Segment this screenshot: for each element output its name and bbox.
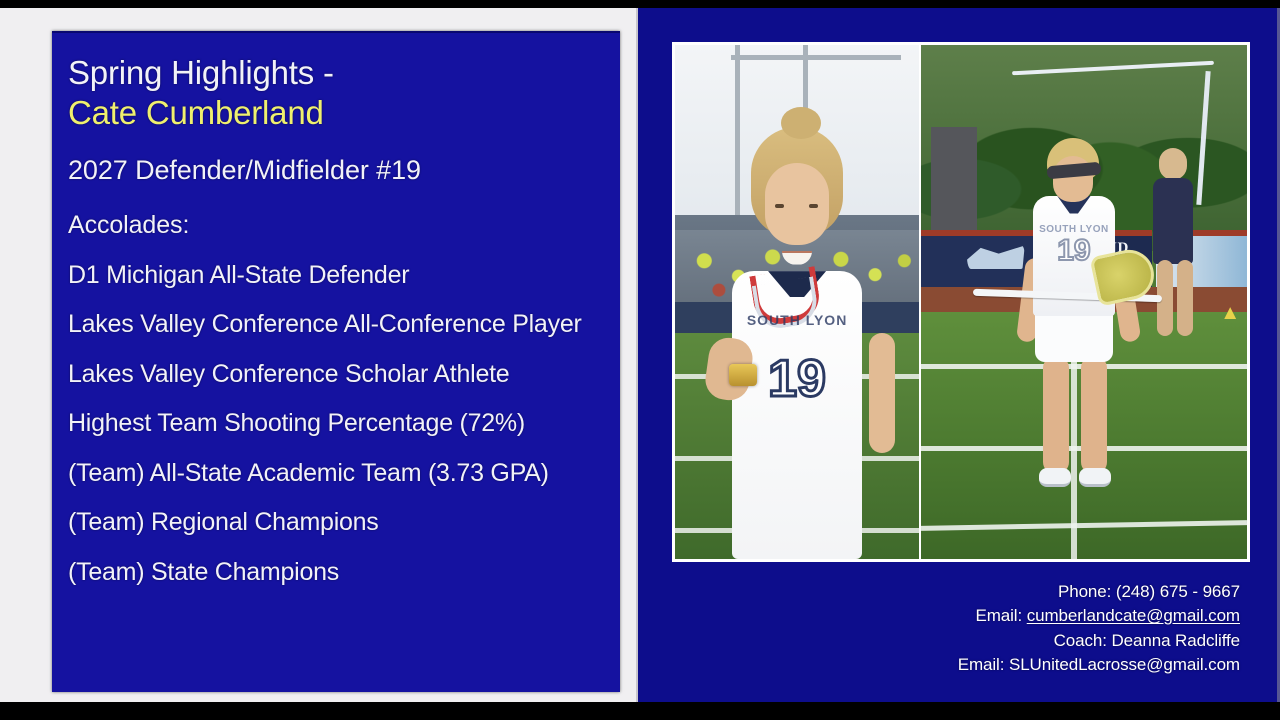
photo-field-action: FOUND: [921, 45, 1247, 559]
letterbox-top: [0, 0, 1280, 8]
left-page-background: Spring Highlights - Cate Cumberland 2027…: [0, 8, 638, 702]
gold-medal: [729, 364, 757, 386]
contact-phone: Phone: (248) 675 - 9667: [958, 580, 1240, 604]
athlete-name: Cate Cumberland: [68, 93, 604, 133]
accolades-list: D1 Michigan All-State Defender Lakes Val…: [68, 261, 604, 587]
accolade-item: (Team) State Champions: [68, 558, 604, 587]
accolade-item: D1 Michigan All-State Defender: [68, 261, 604, 290]
player-eye: [809, 204, 818, 208]
player-hair-bun: [781, 107, 821, 139]
contact-email-link[interactable]: cumberlandcate@gmail.com: [1027, 606, 1240, 625]
jersey-team-name: SOUTH LYON: [1033, 224, 1115, 235]
player-leg: [1081, 356, 1107, 474]
presentation-slide: Spring Highlights - Cate Cumberland 2027…: [0, 8, 1280, 702]
right-blue-panel: SOUTH LYON 19 FOUND: [640, 8, 1280, 702]
accolade-item: (Team) Regional Champions: [68, 508, 604, 537]
accolade-item: (Team) All-State Academic Team (3.73 GPA…: [68, 459, 604, 488]
background-player-head: [1159, 148, 1187, 180]
highlights-text-card: Spring Highlights - Cate Cumberland 2027…: [52, 31, 620, 692]
goal-post: [735, 45, 740, 235]
coach-name: Coach: Deanna Radcliffe: [958, 629, 1240, 653]
letterbox-bottom: [0, 702, 1280, 720]
player-shoe: [1079, 468, 1111, 487]
photo-portrait-with-medal: SOUTH LYON 19: [675, 45, 919, 559]
player-leg: [1043, 356, 1069, 474]
contact-email-label: Email:: [975, 606, 1026, 625]
accolade-item: Lakes Valley Conference All-Conference P…: [68, 310, 604, 339]
goal-crossbar: [731, 55, 901, 60]
contact-email: Email: cumberlandcate@gmail.com: [958, 604, 1240, 628]
contact-block: Phone: (248) 675 - 9667 Email: cumberlan…: [958, 580, 1240, 677]
coach-email: Email: SLUnitedLacrosse@gmail.com: [958, 653, 1240, 677]
photo-composite: SOUTH LYON 19 FOUND: [672, 42, 1250, 562]
player-shorts: [1035, 310, 1113, 362]
accolade-item: Lakes Valley Conference Scholar Athlete: [68, 360, 604, 389]
accolades-heading: Accolades:: [68, 211, 604, 240]
jersey-team-name: SOUTH LYON: [734, 312, 860, 328]
background-player-body: [1153, 178, 1193, 264]
athlete-position-line: 2027 Defender/Midfielder #19: [68, 154, 604, 186]
accolade-item: Highest Team Shooting Percentage (72%): [68, 409, 604, 438]
foreground-player: SOUTH LYON 19: [1019, 138, 1139, 549]
background-player-leg: [1177, 260, 1193, 336]
slide-title-main: Spring Highlights -: [68, 53, 604, 93]
video-frame: Spring Highlights - Cate Cumberland 2027…: [0, 0, 1280, 720]
player-eye: [775, 204, 784, 208]
player-shoe: [1039, 468, 1071, 487]
player-arm: [869, 333, 895, 453]
